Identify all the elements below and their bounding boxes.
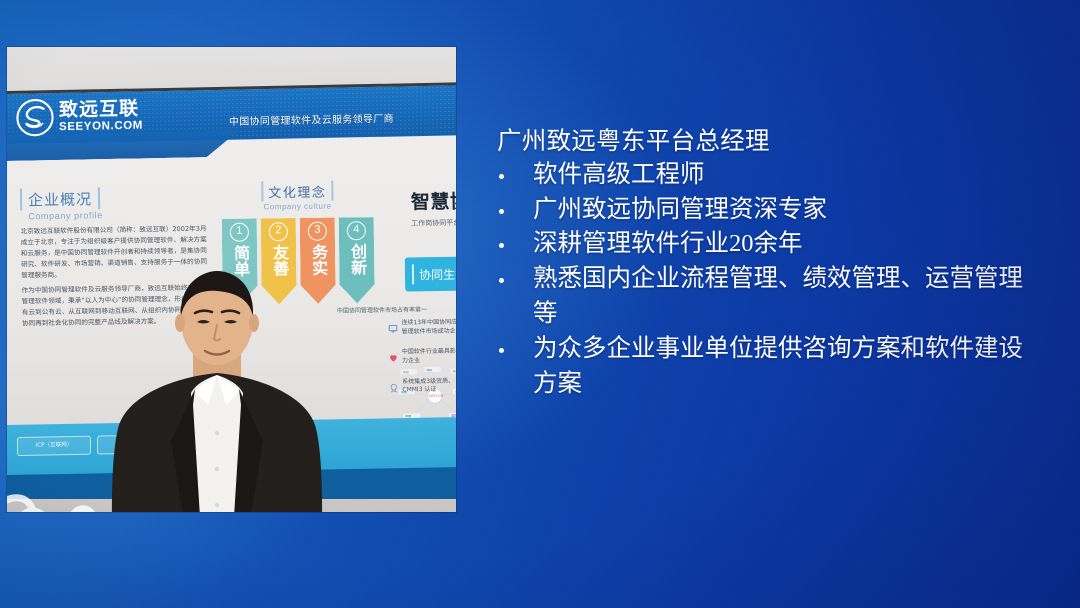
seeyon-logo-text: 致远互联 SEEYON.COM [59,99,143,133]
monitor-icon [388,320,397,329]
poster-tagline: 中国协同管理软件及云服务领导厂商 [229,110,394,128]
bio-bullet-item: 熟悉国内企业流程管理、绩效管理、运营管理等 [497,262,1027,332]
seeyon-logo-en: SEEYON.COM [59,120,143,133]
speaker-photo: 致远互联 SEEYON.COM 中国协同管理软件及云服务领导厂商 企业概况 Co… [7,47,456,512]
eco-label-text: 协同生态 [419,266,456,284]
seeyon-swirl-logo-icon [16,98,54,137]
certification-item: 中国软件行业最具影响力企业 [389,348,456,366]
bio-title: 广州致远粤东平台总经理 [497,126,1027,158]
certification-list: 连续13年中国协同应用管理软件市场成功企业 中国软件行业最具影响力企业 系统集成… [388,318,456,407]
poster-subline: 工作岗协同平台 [411,217,456,228]
certification-item: 系统集成3级资质、CMMI3 认证 [389,377,456,395]
eco-bar-rule [412,264,414,284]
poster-right-headline-group: 智慧协同 工作岗协同平台 [411,186,456,228]
heading-rule-right [98,187,100,209]
company-culture-heading-en: Company culture [213,201,383,212]
bio-bullet-item: 软件高级工程师 [497,158,1027,193]
culture-arrow-number: 2 [269,222,288,241]
bio-bullet-item: 为众多企业事业单位提供咨询方案和软件建设方案 [497,332,1027,402]
company-culture-heading: 文化理念 [212,180,382,202]
heading-rule-left [20,188,22,210]
bio-bullet-list: 软件高级工程师 广州致远协同管理资深专家 深耕管理软件行业20余年 熟悉国内企业… [497,158,1027,401]
certification-text: 连续13年中国协同应用管理软件市场成功企业 [401,318,456,336]
company-profile-heading: 企业概况 [20,186,206,211]
seeyon-logo-group: 致远互联 SEEYON.COM [16,97,143,137]
bio-bullet-item: 深耕管理软件行业20余年 [497,227,1027,262]
seeyon-logo-cn: 致远互联 [59,99,143,120]
eco-label-bar: 协同生态 [405,256,456,291]
slide-canvas: 致远互联 SEEYON.COM 中国协同管理软件及云服务领导厂商 企业概况 Co… [0,0,1080,608]
culture-rule-left [262,181,264,201]
culture-arrow-number: 3 [308,222,327,241]
company-profile-heading-cn: 企业概况 [28,188,92,210]
heart-icon [389,350,398,359]
certification-item: 连续13年中国协同应用管理软件市场成功企业 [388,318,456,336]
company-profile-heading-en: Company profile [28,209,206,222]
badge-icon [389,379,398,388]
bio-bullet-item: 广州致远协同管理资深专家 [497,193,1027,228]
culture-arrow-number: 1 [230,223,249,242]
culture-arrow-number: 4 [347,221,366,240]
speaker-figure [67,265,367,512]
company-culture-heading-cn: 文化理念 [268,181,326,201]
certification-text: 中国软件行业最具影响力企业 [402,348,456,366]
certification-text: 系统集成3级资质、CMMI3 认证 [402,377,456,395]
poster-headline: 智慧协同 [411,186,456,214]
bio-text-column: 广州致远粤东平台总经理 软件高级工程师 广州致远协同管理资深专家 深耕管理软件行… [497,126,1027,401]
culture-rule-right [331,181,333,201]
